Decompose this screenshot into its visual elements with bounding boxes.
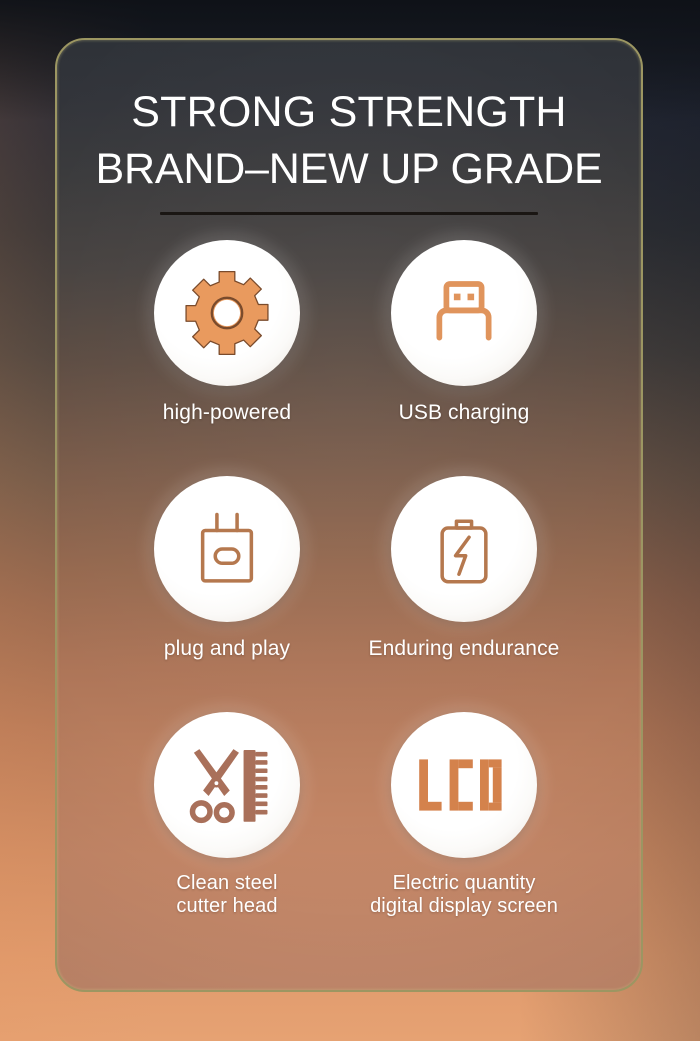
headline-divider [160, 212, 538, 215]
feature-caption: Enduring endurance [344, 636, 584, 661]
usb-connector-icon [420, 269, 508, 357]
feature-row-1: high-powered [57, 240, 643, 476]
feature-card: STRONG STRENGTH BRAND–NEW UP GRADE [55, 38, 643, 992]
medallion [391, 476, 537, 622]
feature-caption-line-2: cutter head [107, 895, 347, 918]
feature-caption-line-1: Clean steel [107, 872, 347, 895]
feature-caption-line-1: USB charging [344, 400, 584, 425]
lcd-display-icon [416, 752, 512, 818]
headline: STRONG STRENGTH BRAND–NEW UP GRADE [57, 84, 641, 198]
feature-caption-line-1: Enduring endurance [344, 636, 584, 661]
headline-line-2: BRAND–NEW UP GRADE [57, 141, 641, 198]
feature-item-high-powered: high-powered [107, 240, 347, 425]
feature-caption-line-2: digital display screen [344, 895, 584, 918]
medallion [154, 240, 300, 386]
battery-bolt-icon [422, 507, 506, 591]
feature-caption-line-1: plug and play [107, 636, 347, 661]
medallion [154, 476, 300, 622]
power-plug-adapter-icon [185, 507, 269, 591]
feature-row-2: plug and play [57, 476, 643, 712]
medallion [391, 240, 537, 386]
headline-line-1: STRONG STRENGTH [57, 84, 641, 141]
feature-caption: Electric quantity digital display screen [344, 872, 584, 918]
feature-item-digital-display: Electric quantity digital display screen [344, 712, 584, 918]
medallion [391, 712, 537, 858]
feature-item-plug-and-play: plug and play [107, 476, 347, 661]
gear-icon [181, 267, 273, 359]
feature-row-3: Clean steel cutter head [57, 712, 643, 948]
feature-caption: plug and play [107, 636, 347, 661]
scissors-comb-icon [181, 739, 273, 831]
feature-caption-line-1: high-powered [107, 400, 347, 425]
feature-caption: Clean steel cutter head [107, 872, 347, 918]
feature-item-usb-charging: USB charging [344, 240, 584, 425]
medallion [154, 712, 300, 858]
infographic-stage: STRONG STRENGTH BRAND–NEW UP GRADE [0, 0, 700, 1041]
feature-caption: USB charging [344, 400, 584, 425]
feature-grid: high-powered [57, 240, 643, 948]
feature-item-enduring-endurance: Enduring endurance [344, 476, 584, 661]
feature-item-clean-steel-cutter-head: Clean steel cutter head [107, 712, 347, 918]
feature-caption: high-powered [107, 400, 347, 425]
feature-caption-line-1: Electric quantity [344, 872, 584, 895]
